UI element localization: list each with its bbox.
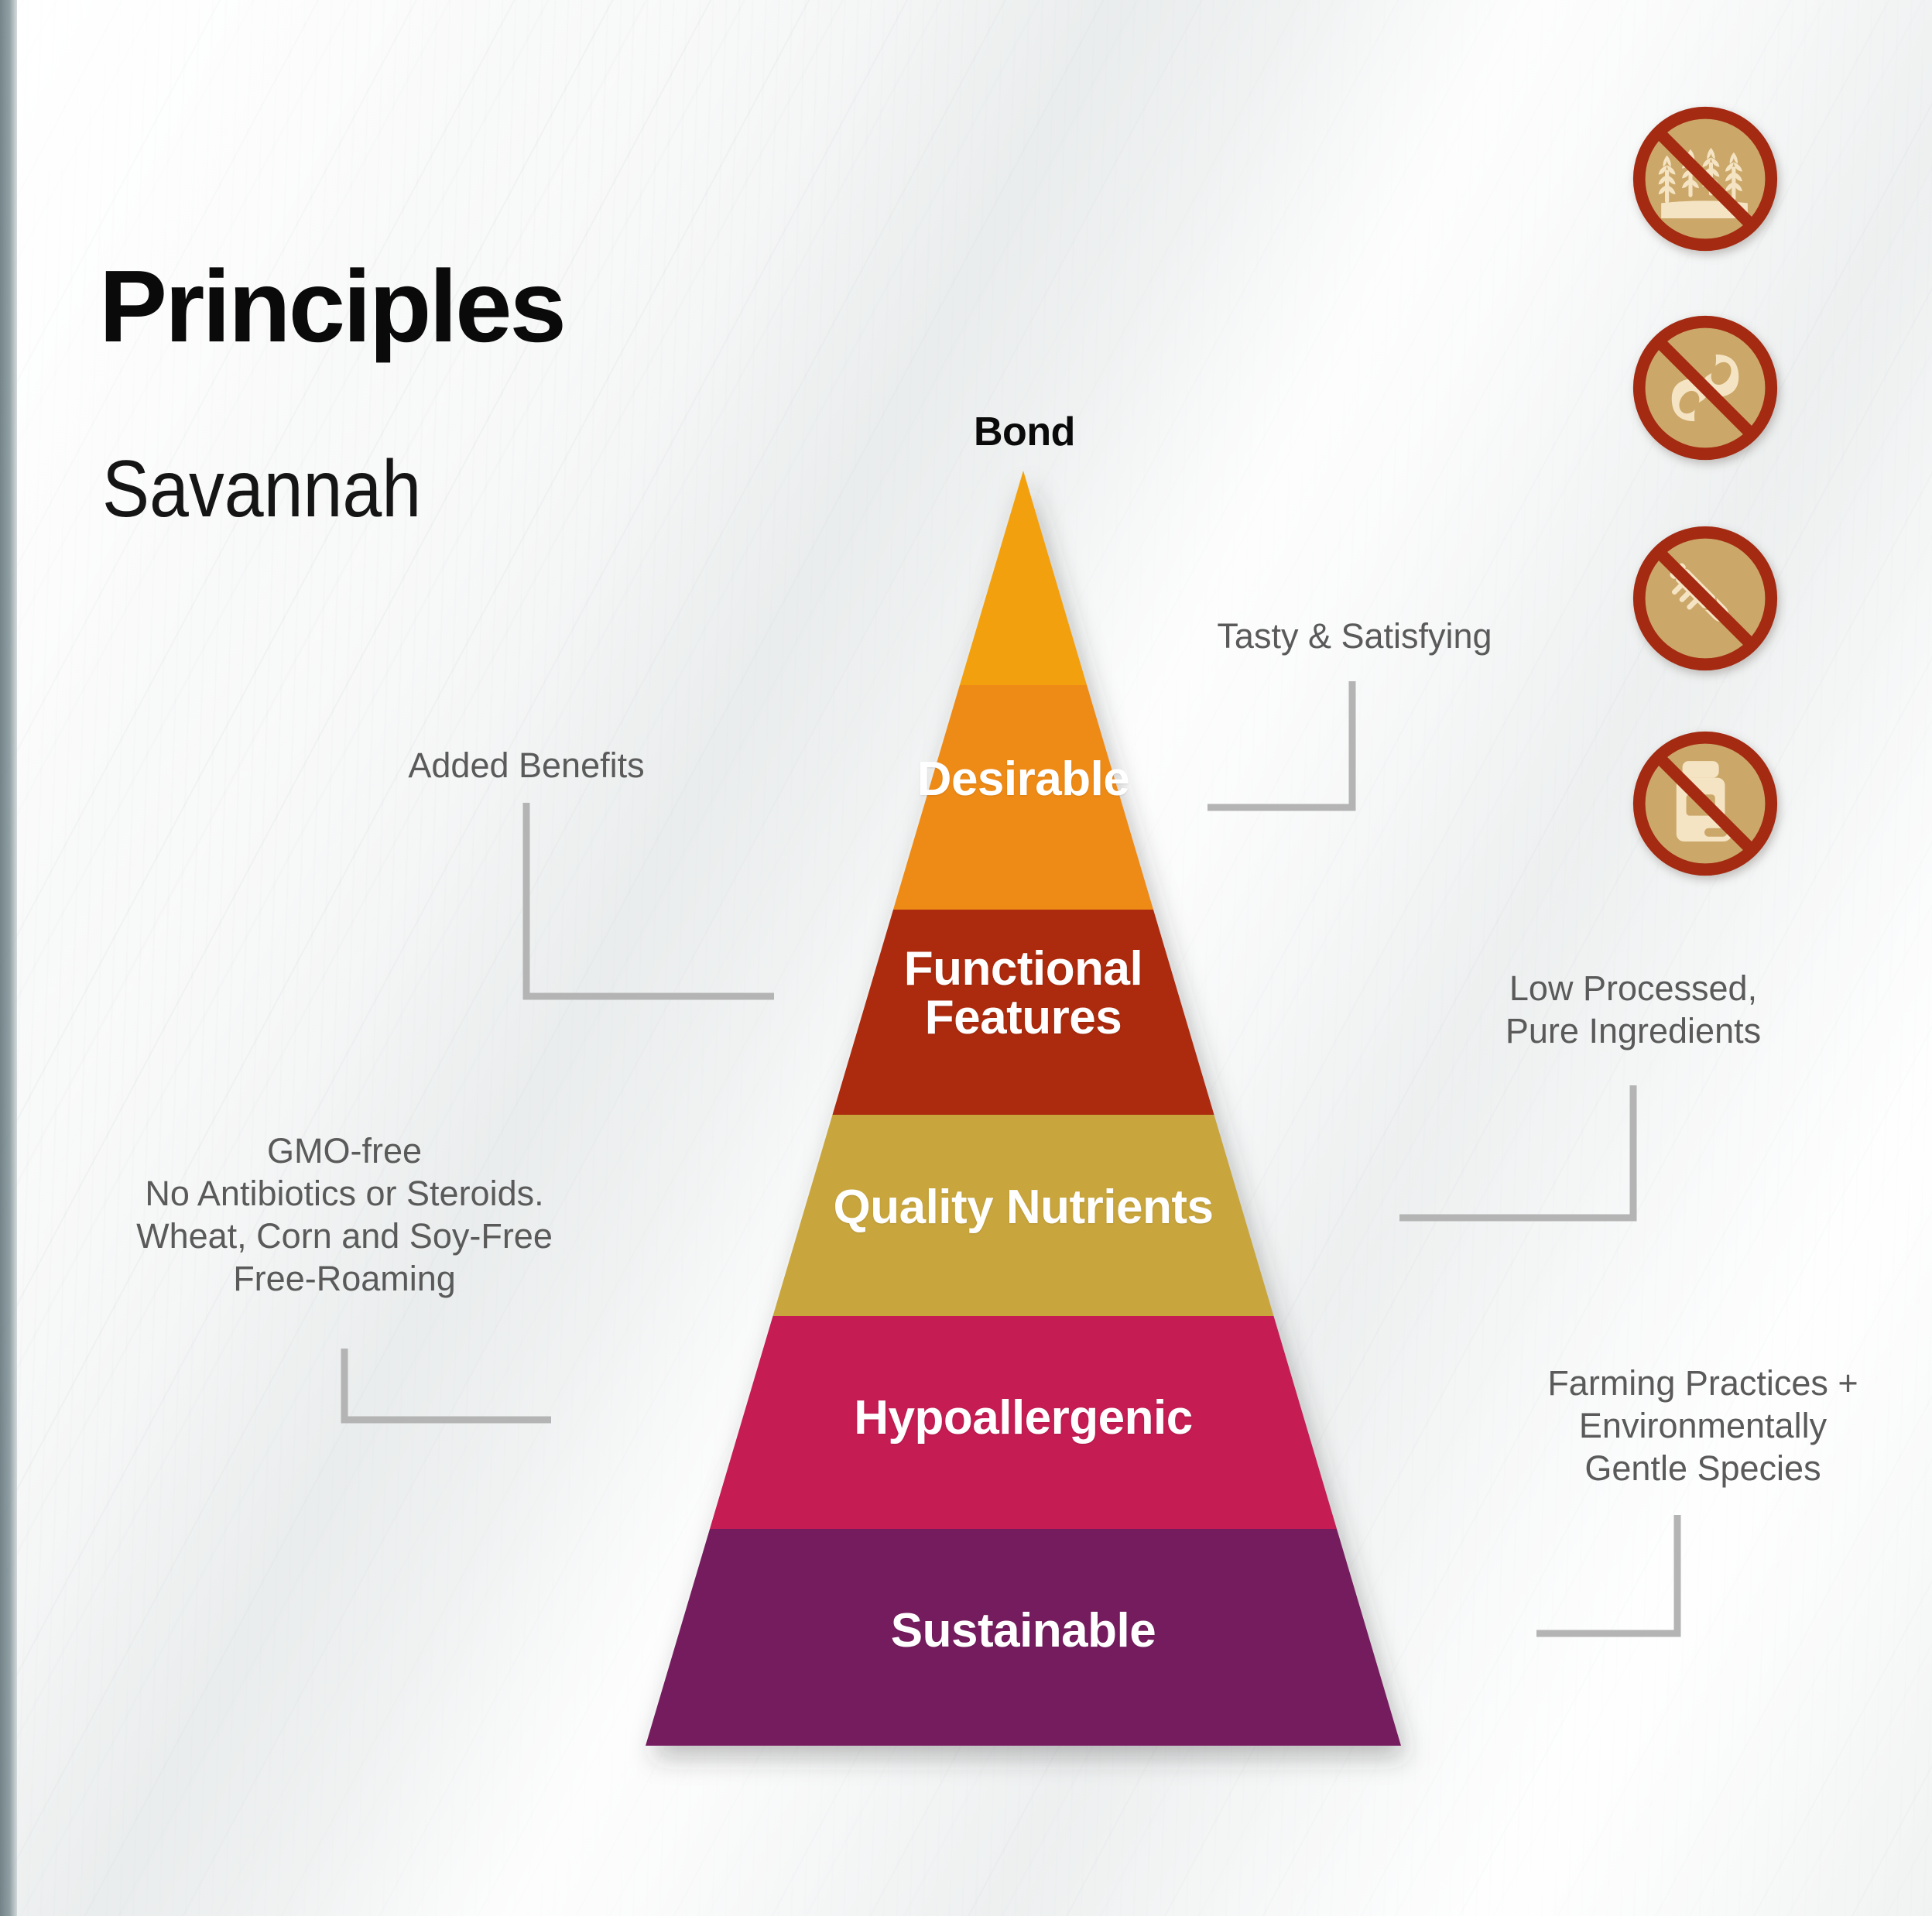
no-wheat-icon [1629, 103, 1781, 255]
no-gmo-icon [1629, 312, 1781, 464]
tier-label-sustainable: Sustainable [791, 1606, 1255, 1655]
annotation-added-benefits: Added Benefits [333, 745, 720, 787]
no-syringe-icon [1629, 523, 1781, 674]
annotation-farming-practices: Farming Practices + Environmentally Gent… [1494, 1362, 1912, 1490]
connector-low-processed [1399, 1085, 1633, 1218]
connector-farming [1536, 1515, 1677, 1633]
tier-label-functional-features: Functional Features [791, 944, 1255, 1042]
annotation-low-processed: Low Processed, Pure Ingredients [1440, 968, 1827, 1053]
infographic-canvas: Principles Savannah Bond [0, 0, 1932, 1916]
pyramid-diagram: Desirable Functional Features Quality Nu… [0, 0, 1932, 1916]
tier-label-quality-nutrients: Quality Nutrients [791, 1183, 1255, 1232]
no-medication-icon [1629, 728, 1781, 879]
tier-label-desirable: Desirable [791, 755, 1255, 804]
connector-added-benefits [526, 803, 774, 996]
connector-gmo-free [344, 1349, 551, 1420]
pyramid-tier-apex [960, 471, 1087, 685]
annotation-gmo-free: GMO-free No Antibiotics or Steroids. Whe… [74, 1130, 615, 1301]
tier-label-hypoallergenic: Hypoallergenic [791, 1393, 1255, 1442]
pyramid-tiers [646, 471, 1401, 1746]
annotation-tasty-satisfying: Tasty & Satisfying [1161, 615, 1548, 658]
